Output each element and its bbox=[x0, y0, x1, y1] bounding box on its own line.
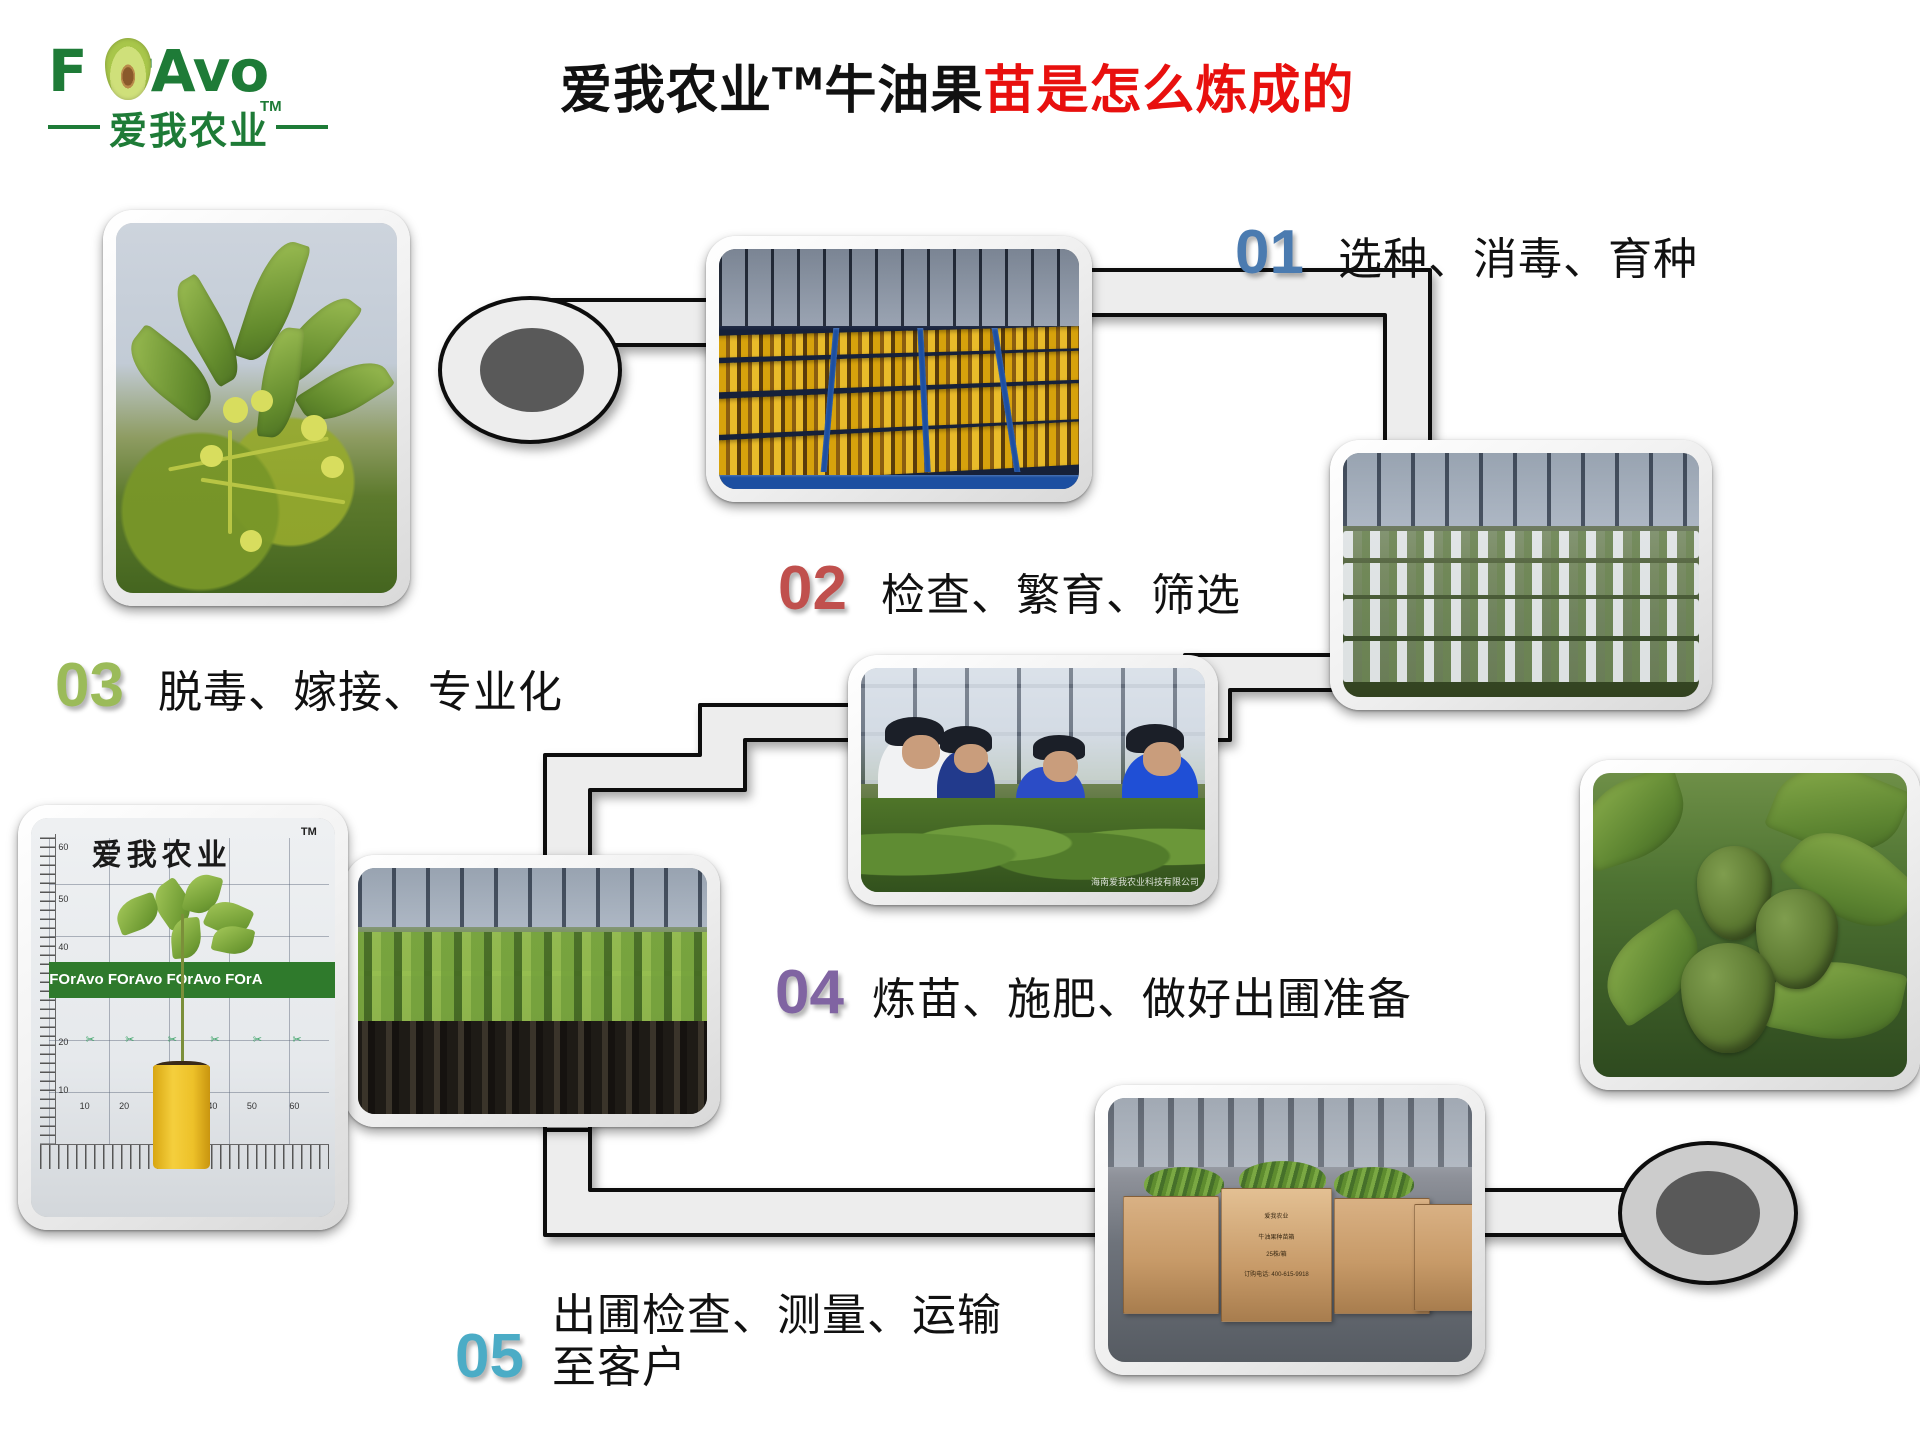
step-01-number: 01 bbox=[1235, 222, 1304, 284]
step-05: 05 出圃检查、测量、运输 至客户 bbox=[455, 1290, 1002, 1394]
measurement-board-seedling-photo: 爱我农业 TM 60 50 40 30 20 10 10 20 40 50 60… bbox=[18, 805, 348, 1230]
step-02-label: 检查、繁育、筛选 bbox=[881, 570, 1241, 622]
flow-start-node-dot bbox=[480, 328, 584, 412]
step-05-label-line1: 出圃检查、测量、运输 bbox=[552, 1290, 1002, 1342]
step-04: 04 炼苗、施肥、做好出圃准备 bbox=[775, 962, 1412, 1026]
step-05-label-line2: 至客户 bbox=[552, 1342, 1002, 1394]
step-05-number: 05 bbox=[455, 1326, 524, 1388]
board-brand-text: 爱我农业 bbox=[92, 830, 232, 874]
board-foravo-banner: FOrAvo FOrAvo FOrAvo FOrA bbox=[49, 962, 335, 998]
step-04-number: 04 bbox=[775, 962, 844, 1024]
step-04-label: 炼苗、施肥、做好出圃准备 bbox=[872, 974, 1412, 1026]
ruler-h-tick-50: 50 bbox=[247, 1101, 257, 1111]
box-line3: 25株/箱 bbox=[1222, 1251, 1331, 1259]
step-03-label: 脱毒、嫁接、专业化 bbox=[158, 667, 563, 719]
box-line2: 牛油果种苗箱 bbox=[1222, 1234, 1331, 1242]
step-02: 02 检查、繁育、筛选 bbox=[778, 558, 1241, 622]
ruler-tick-10: 10 bbox=[58, 1085, 68, 1095]
bagged-plants-greenhouse-photo bbox=[1330, 440, 1712, 710]
avocado-fruit-on-tree-photo bbox=[1580, 760, 1920, 1090]
team-inspection-photo: 海南爱我农业科技有限公司 bbox=[848, 655, 1218, 905]
avocado-blossom-photo bbox=[103, 210, 410, 606]
photo-watermark: 海南爱我农业科技有限公司 bbox=[1091, 875, 1199, 888]
ruler-h-tick-60: 60 bbox=[289, 1101, 299, 1111]
shipping-boxes-photo: 爱我农业 牛油果种苗箱 25株/箱 订购电话: 400-615-9918 bbox=[1095, 1085, 1485, 1375]
step-05-label: 出圃检查、测量、运输 至客户 bbox=[552, 1290, 1002, 1394]
flow-end-node-dot bbox=[1656, 1171, 1760, 1255]
ruler-h-tick-10: 10 bbox=[80, 1101, 90, 1111]
step-01-label: 选种、消毒、育种 bbox=[1338, 234, 1698, 286]
board-tm-symbol: TM bbox=[301, 826, 317, 838]
box-brand-text: 爱我农业 bbox=[1222, 1213, 1331, 1221]
step-03-number: 03 bbox=[55, 655, 124, 717]
potted-seedlings-photo bbox=[345, 855, 720, 1127]
ruler-tick-20: 20 bbox=[58, 1037, 68, 1047]
ruler-tick-40: 40 bbox=[58, 942, 68, 952]
step-03: 03 脱毒、嫁接、专业化 bbox=[55, 655, 563, 719]
box-phone: 订购电话: 400-615-9918 bbox=[1222, 1271, 1331, 1279]
seed-trays-greenhouse-photo bbox=[706, 236, 1092, 502]
step-02-number: 02 bbox=[778, 558, 847, 620]
step-01: 01 选种、消毒、育种 bbox=[1235, 222, 1698, 286]
ruler-tick-50: 50 bbox=[58, 894, 68, 904]
ruler-tick-60: 60 bbox=[58, 842, 68, 852]
ruler-h-tick-20: 20 bbox=[119, 1101, 129, 1111]
